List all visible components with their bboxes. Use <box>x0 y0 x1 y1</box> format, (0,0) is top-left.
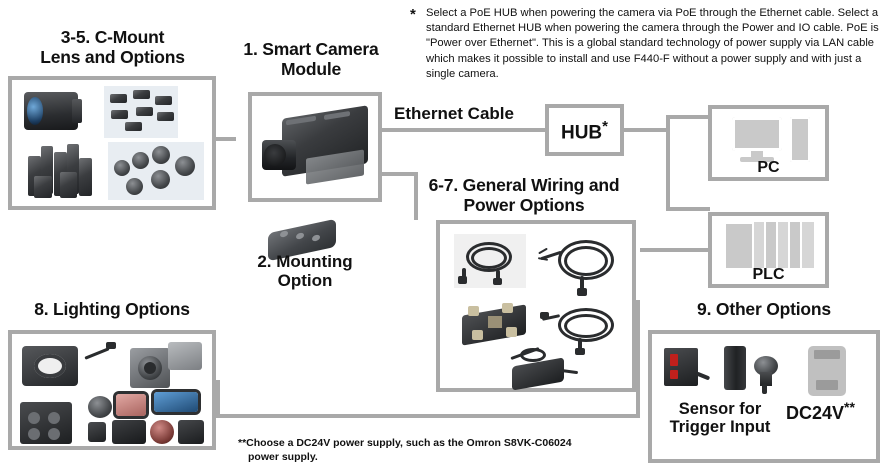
connector-other-riser <box>636 300 640 414</box>
c-mount-lens-icon <box>24 92 78 130</box>
power-supply-icon <box>804 342 850 398</box>
light-housing-icon <box>112 420 146 444</box>
connector-lighting-riser <box>216 380 220 416</box>
small-lens-7 <box>125 122 142 131</box>
lighting-options-box[interactable] <box>8 330 216 450</box>
small-spot-icon <box>88 422 106 442</box>
plc-box[interactable]: PLC <box>708 212 829 288</box>
small-lens-3 <box>155 96 172 105</box>
plc-module-2 <box>766 222 776 268</box>
ring-light-connector <box>106 342 116 349</box>
filter-3 <box>152 146 170 164</box>
plc-module-5 <box>802 222 814 268</box>
note-asterisk-icon: * <box>410 5 416 25</box>
power-supply-footnote: **Choose a DC24V power supply, such as t… <box>238 436 638 465</box>
extension-tubes-icon <box>26 142 98 200</box>
connector-bottom-rail <box>216 414 640 418</box>
small-lens-6 <box>157 112 174 121</box>
filter-1 <box>114 160 130 176</box>
pc-box[interactable]: PC <box>708 105 829 181</box>
plc-module-3 <box>778 222 788 268</box>
plc-cpu-icon <box>726 224 752 268</box>
small-lens-1 <box>110 94 127 103</box>
diagram-canvas: 3-5. C-Mount Lens and Options <box>0 0 889 471</box>
dc24v-double-asterisk-icon: ** <box>844 399 855 415</box>
filter-5 <box>151 170 170 189</box>
connector-trunk-to-plc <box>666 207 710 211</box>
cylindrical-sensor-icon <box>724 346 746 390</box>
connector-wiring-to-plc <box>640 248 710 252</box>
camera-section-heading: 1. Smart Camera Module <box>236 40 386 79</box>
proximity-sensor-icon <box>752 356 786 394</box>
pc-tower-icon <box>790 117 810 162</box>
connector-trunk-vertical <box>666 115 670 211</box>
connector-trunk-to-pc <box>666 115 710 119</box>
wiring-options-box[interactable] <box>436 220 636 392</box>
lighting-section-heading: 8. Lighting Options <box>8 300 216 320</box>
spot-light-icon <box>20 396 82 446</box>
note-text: Select a PoE HUB when powering the camer… <box>426 6 888 82</box>
ethernet-cable-label: Ethernet Cable <box>394 104 544 123</box>
bar-light-icon <box>154 392 198 412</box>
filter-2 <box>132 152 149 169</box>
ac-adapter-icon <box>498 348 582 390</box>
coaxial-light-icon <box>128 340 204 394</box>
red-ring-filter-icon <box>150 420 174 444</box>
sensor-caption: Sensor for Trigger Input <box>650 400 790 437</box>
filter-lens-icon <box>88 396 112 418</box>
small-lens-5 <box>136 107 153 116</box>
hub-asterisk-icon: * <box>602 118 608 135</box>
small-lens-4 <box>111 110 128 119</box>
filter-6 <box>126 178 143 195</box>
footnote-line-2: power supply. <box>248 450 638 464</box>
hub-box[interactable]: HUB* <box>545 104 624 156</box>
smart-camera-icon <box>262 108 374 192</box>
plc-module-4 <box>790 222 800 268</box>
pc-label: PC <box>712 159 825 177</box>
ethernet-cable-icon <box>454 234 526 288</box>
wiring-section-heading: 6-7. General Wiring and Power Options <box>408 176 640 215</box>
filter-4 <box>175 156 195 176</box>
power-io-cable-icon <box>536 232 624 294</box>
footnote-line-1: **Choose a DC24V power supply, such as t… <box>238 437 572 449</box>
lens-mount-ring <box>72 99 82 123</box>
poe-note: * Select a PoE HUB when powering the cam… <box>410 6 888 82</box>
terminal-block-icon <box>456 300 536 348</box>
small-lens-2 <box>133 90 150 99</box>
connector-camera-to-hub <box>382 128 545 132</box>
lens-section-heading: 3-5. C-Mount Lens and Options <box>10 28 215 67</box>
red-filter-icon <box>116 394 146 416</box>
other-section-heading: 9. Other Options <box>648 300 880 320</box>
monitor-icon <box>732 117 782 151</box>
plc-module-1 <box>754 222 764 268</box>
photoelectric-sensor-icon <box>664 344 716 394</box>
connector-hub-to-trunk <box>624 128 670 132</box>
lens-options-box[interactable] <box>8 76 216 210</box>
other-options-box[interactable]: Sensor for Trigger Input DC24V** <box>648 330 880 463</box>
mounting-option-caption: 2. Mounting Option <box>240 252 370 290</box>
dc24v-caption: DC24V** <box>786 400 878 423</box>
ring-light-cable <box>84 347 109 360</box>
connector-lens-to-trunk <box>216 137 236 141</box>
bracket-icon <box>178 420 204 444</box>
ring-light-icon <box>22 342 84 388</box>
hub-label: HUB <box>561 122 602 143</box>
smart-camera-box[interactable] <box>248 92 382 202</box>
io-cable-icon <box>540 302 624 354</box>
plc-label: PLC <box>712 266 825 284</box>
